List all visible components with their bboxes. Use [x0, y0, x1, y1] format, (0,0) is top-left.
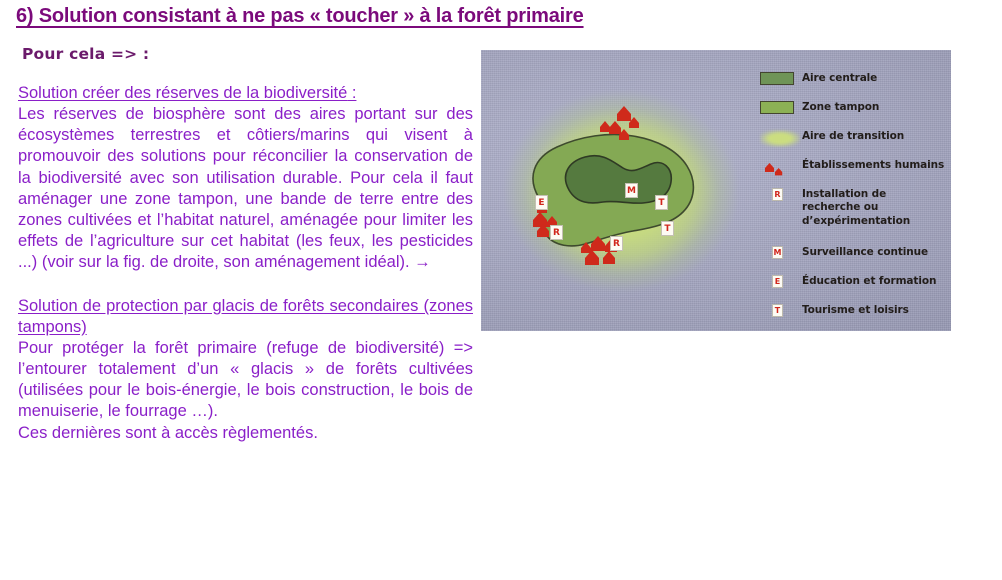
figure-legend: Aire centrale Zone tampon Aire de transi… — [756, 72, 946, 331]
legend-label: Aire de transition — [802, 130, 904, 143]
legend-key — [756, 101, 802, 114]
legend-key: R — [756, 188, 802, 201]
legend-item-research: R Installation de recherche ou d’expérim… — [756, 188, 946, 228]
legend-item-core: Aire centrale — [756, 72, 946, 89]
legend-item-settlements: Établissements humains — [756, 159, 946, 176]
marker-t-transition: T — [661, 221, 674, 236]
house-icon — [609, 121, 621, 134]
legend-item-transition: Aire de transition — [756, 130, 946, 147]
legend-label: Surveillance continue — [802, 246, 928, 259]
education-marker-icon: E — [772, 275, 783, 288]
monitoring-marker-icon: M — [772, 246, 783, 259]
section-reserves-biodiversite: Solution créer des réserves de la biodiv… — [18, 83, 473, 274]
house-icon — [591, 236, 605, 251]
tourism-marker-icon: T — [772, 304, 783, 317]
house-icon — [533, 212, 547, 227]
house-icon — [600, 121, 610, 132]
house-icon — [603, 251, 615, 264]
marker-e-buffer: E — [535, 195, 548, 210]
legend-item-buffer: Zone tampon — [756, 101, 946, 118]
core-area-swatch-icon — [760, 72, 794, 85]
section-paragraph-closing: Ces dernières sont à accès règlementés. — [18, 423, 473, 444]
buffer-zone-swatch-icon — [760, 101, 794, 114]
legend-key — [756, 130, 802, 147]
legend-label: Tourisme et loisirs — [802, 304, 909, 317]
legend-key: E — [756, 275, 802, 288]
section-paragraph: Les réserves de biosphère sont des aires… — [18, 104, 473, 274]
marker-r-transition: R — [610, 236, 623, 251]
legend-key: M — [756, 246, 802, 259]
house-icon — [760, 159, 794, 176]
legend-label: Établissements humains — [802, 159, 944, 172]
section-paragraph: Pour protéger la forêt primaire (refuge … — [18, 338, 473, 423]
legend-label: Éducation et formation — [802, 275, 936, 288]
section-spacer — [18, 274, 473, 296]
section-heading: Solution de protection par glacis de for… — [18, 296, 473, 338]
marker-t-buffer: T — [655, 195, 668, 210]
page-title: 6) Solution consistant à ne pas « touche… — [16, 5, 736, 28]
legend-item-tourism: T Tourisme et loisirs — [756, 304, 946, 321]
marker-m-core: M — [625, 183, 638, 198]
section-heading-text: Solution créer des réserves de la biodiv… — [18, 84, 347, 102]
human-settlements-group — [481, 50, 761, 331]
section-glacis-forets-secondaires: Solution de protection par glacis de for… — [18, 296, 473, 444]
legend-label: Zone tampon — [802, 101, 879, 114]
legend-key: T — [756, 304, 802, 317]
legend-label: Aire centrale — [802, 72, 877, 85]
marker-r-buffer: R — [550, 225, 563, 240]
legend-label: Installation de recherche ou d’expérimen… — [802, 188, 946, 228]
research-marker-icon: R — [772, 188, 783, 201]
legend-key — [756, 159, 802, 176]
legend-key — [756, 72, 802, 85]
legend-item-monitoring: M Surveillance continue — [756, 246, 946, 263]
section-heading-tail: : — [347, 84, 356, 102]
section-heading: Solution créer des réserves de la biodiv… — [18, 83, 473, 104]
text-column: Pour cela => : Solution créer des réserv… — [18, 45, 473, 444]
transition-area-swatch-icon — [760, 130, 800, 147]
house-icon — [617, 106, 631, 121]
biosphere-reserve-figure: M E R T T R Aire centrale Zone tampon Ai… — [481, 50, 951, 331]
house-icon — [581, 242, 591, 253]
lead-line: Pour cela => : — [22, 45, 473, 63]
legend-item-education: E Éducation et formation — [756, 275, 946, 292]
